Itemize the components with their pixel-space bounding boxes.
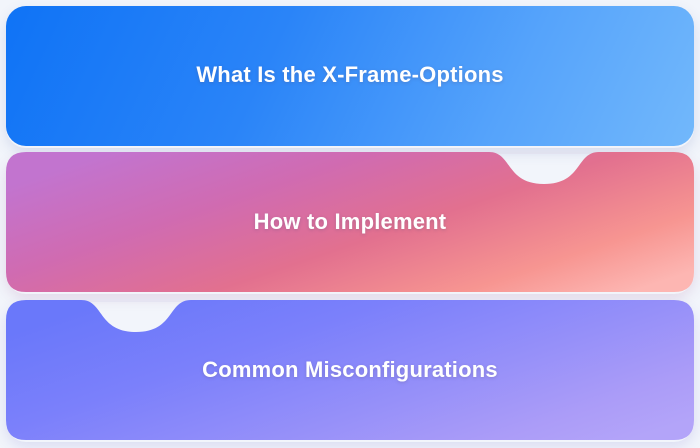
card-label-common-misconfigurations: Common Misconfigurations: [202, 357, 498, 383]
card-common-misconfigurations[interactable]: Common Misconfigurations: [6, 300, 694, 440]
card-label-what-is-the-x-frame-options: What Is the X-Frame-Options: [196, 62, 503, 90]
card-stack: What Is the X-Frame-Options How to Imple…: [0, 0, 700, 448]
card-label-how-to-implement: How to Implement: [254, 209, 447, 235]
card-how-to-implement[interactable]: How to Implement: [6, 152, 694, 292]
card-what-is-the-x-frame-options[interactable]: What Is the X-Frame-Options: [6, 6, 694, 146]
